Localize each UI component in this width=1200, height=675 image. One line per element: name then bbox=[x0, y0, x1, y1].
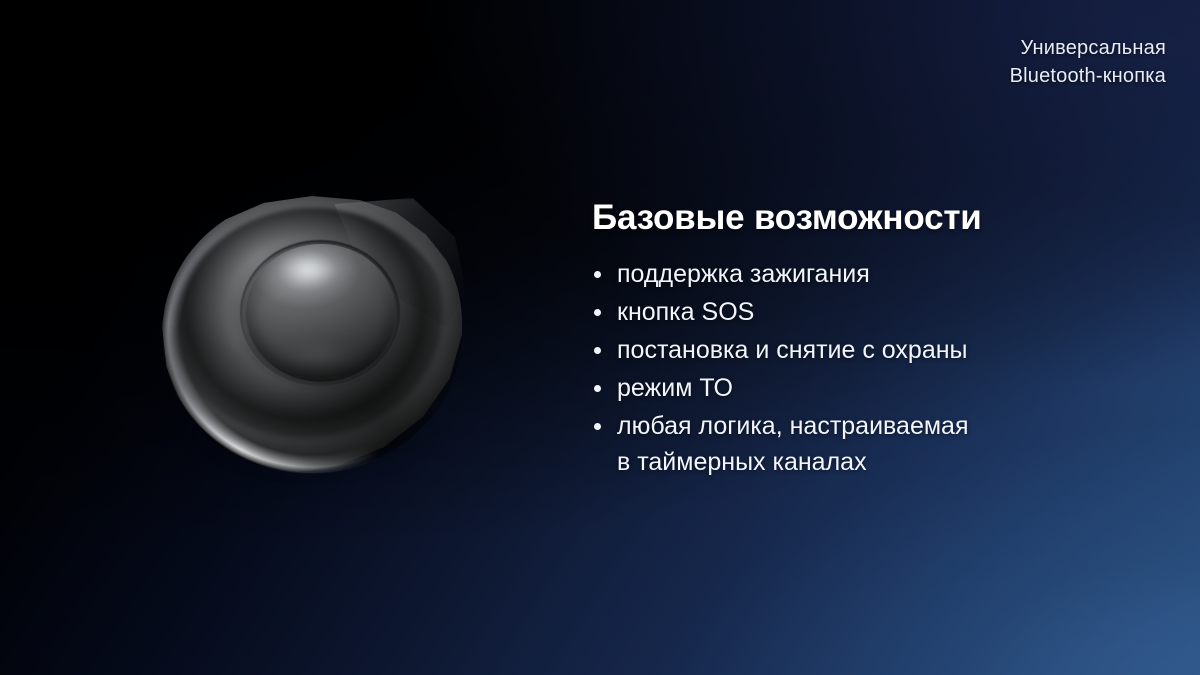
header-caption-line2: Bluetooth-кнопка bbox=[1010, 62, 1166, 90]
list-item: режим ТО bbox=[592, 370, 1152, 406]
page-title: Базовые возможности bbox=[592, 196, 1152, 240]
content-block: Базовые возможности поддержка зажигания … bbox=[592, 196, 1152, 482]
list-item-label: кнопка SOS bbox=[617, 298, 754, 326]
list-item-label: режим ТО bbox=[617, 374, 733, 402]
list-item-label-continued: в таймерных каналах bbox=[617, 444, 1152, 480]
slide-canvas: Универсальная Bluetooth-кнопка Базовые в… bbox=[0, 0, 1200, 675]
list-item: поддержка зажигания bbox=[592, 256, 1152, 292]
list-item-label: поддержка зажигания bbox=[617, 260, 870, 288]
header-caption-line1: Универсальная bbox=[1010, 34, 1166, 62]
device-dome-highlight bbox=[270, 252, 356, 296]
device-dome-bounce-light bbox=[274, 342, 366, 368]
bullet-icon bbox=[594, 309, 601, 316]
list-item: кнопка SOS bbox=[592, 294, 1152, 330]
list-item: постановка и снятие с охраны bbox=[592, 332, 1152, 368]
bullet-icon bbox=[594, 347, 601, 354]
bullet-icon bbox=[594, 271, 601, 278]
list-item-label: постановка и снятие с охраны bbox=[617, 336, 968, 364]
list-item: любая логика, настраиваемая в таймерных … bbox=[592, 408, 1152, 480]
feature-list: поддержка зажигания кнопка SOS постановк… bbox=[592, 256, 1152, 480]
bluetooth-button-device bbox=[158, 192, 476, 484]
list-item-label: любая логика, настраиваемая bbox=[617, 412, 968, 440]
bullet-icon bbox=[594, 423, 601, 430]
header-caption: Универсальная Bluetooth-кнопка bbox=[1010, 34, 1166, 90]
bullet-icon bbox=[594, 385, 601, 392]
